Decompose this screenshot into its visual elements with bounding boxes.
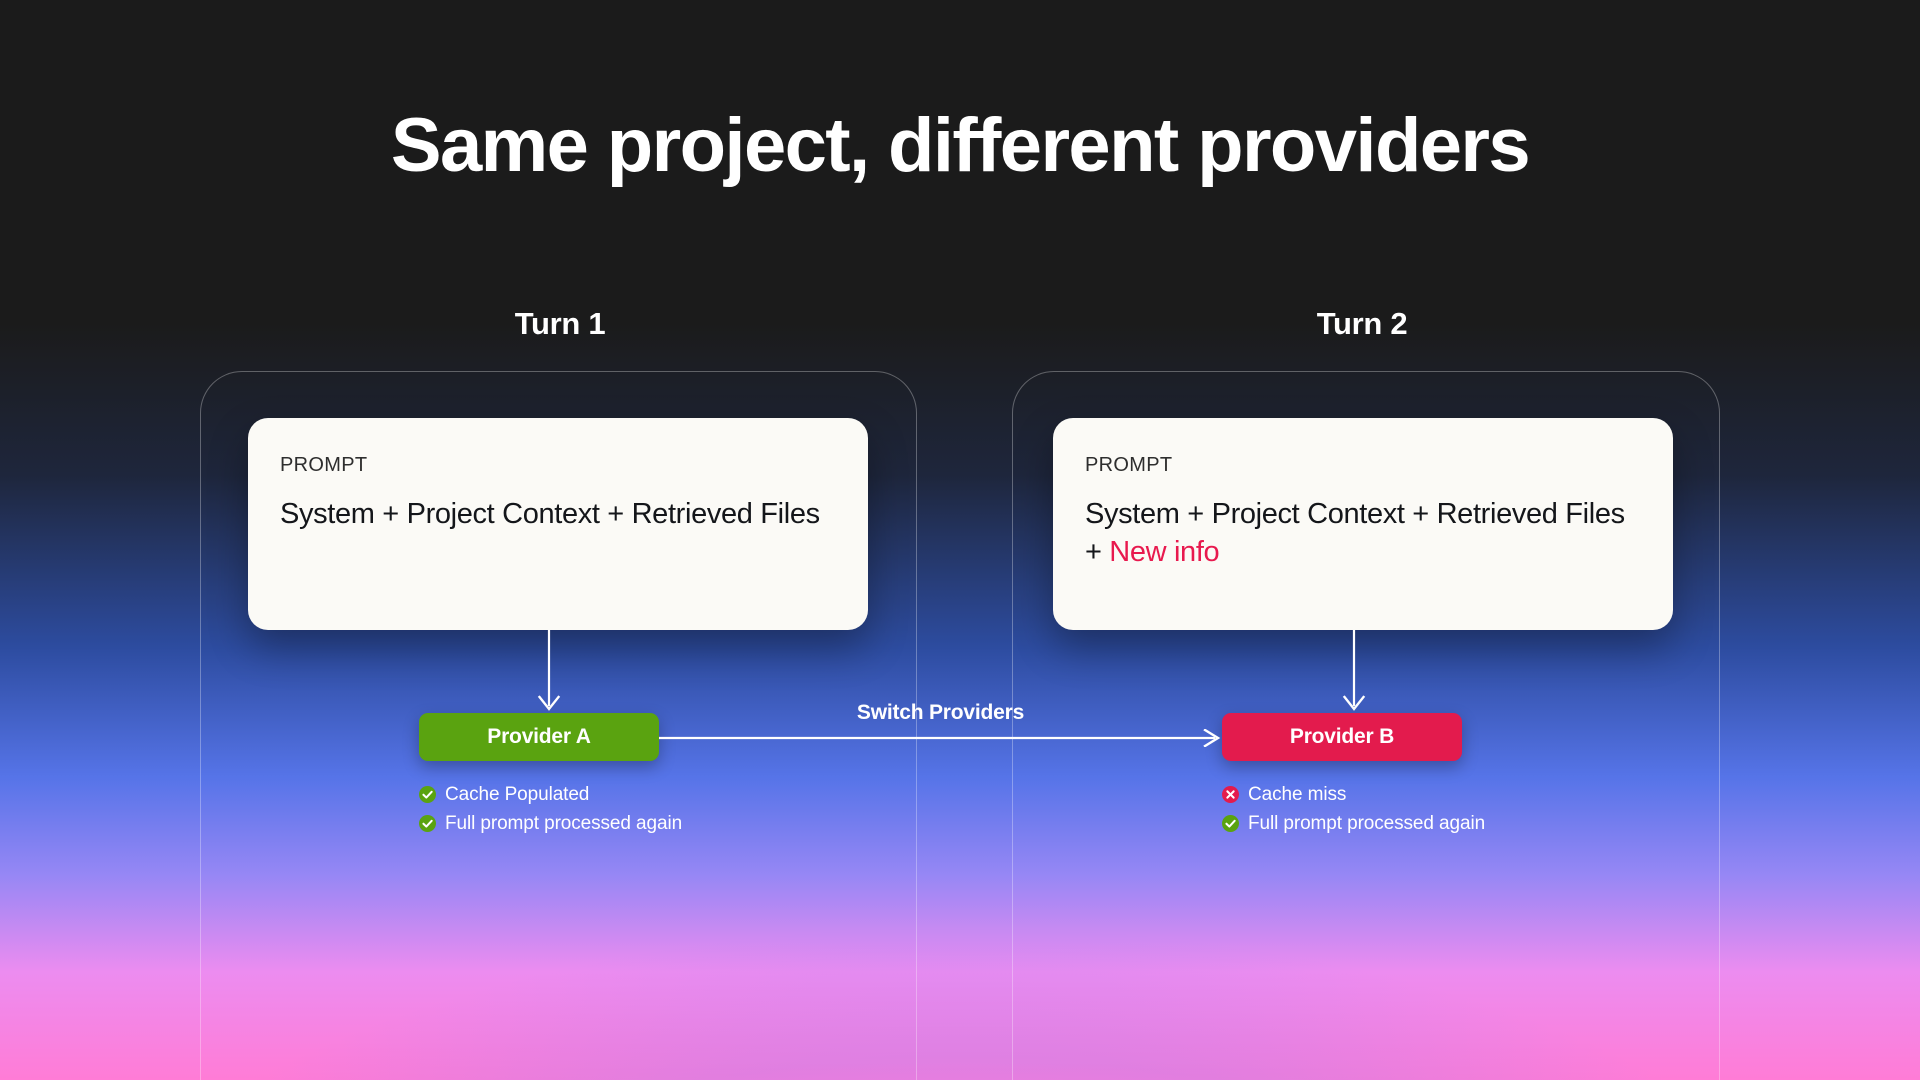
provider-button-b[interactable]: Provider B <box>1222 713 1462 761</box>
prompt-body-accent-segment: New info <box>1109 536 1219 568</box>
status-item: Full prompt processed again <box>419 812 682 836</box>
provider-button-a[interactable]: Provider A <box>419 713 659 761</box>
check-circle-icon <box>419 815 436 832</box>
x-circle-icon <box>1222 786 1239 803</box>
status-label: Full prompt processed again <box>1248 812 1485 836</box>
arrow-down-icon <box>536 630 562 714</box>
prompt-card-turn-1: PROMPT System + Project Context + Retrie… <box>248 418 868 630</box>
prompt-body-segment: System + Project Context + Retrieved Fil… <box>280 498 820 530</box>
switch-providers-label: Switch Providers <box>659 701 1222 725</box>
prompt-card-turn-2: PROMPT System + Project Context + Retrie… <box>1053 418 1673 630</box>
prompt-body: System + Project Context + Retrieved Fil… <box>1085 495 1641 572</box>
status-item: Cache miss <box>1222 783 1485 807</box>
status-label: Cache miss <box>1248 783 1346 807</box>
prompt-body: System + Project Context + Retrieved Fil… <box>280 495 836 533</box>
provider-label: Provider A <box>487 725 590 749</box>
prompt-kicker: PROMPT <box>280 454 836 477</box>
turn-label-1: Turn 1 <box>380 306 740 342</box>
status-list-turn-2: Cache miss Full prompt processed again <box>1222 783 1485 836</box>
status-item: Cache Populated <box>419 783 682 807</box>
arrow-right-icon <box>659 729 1222 747</box>
status-list-turn-1: Cache Populated Full prompt processed ag… <box>419 783 682 836</box>
check-circle-icon <box>419 786 436 803</box>
status-label: Full prompt processed again <box>445 812 682 836</box>
turn-label-2: Turn 2 <box>1182 306 1542 342</box>
prompt-kicker: PROMPT <box>1085 454 1641 477</box>
provider-label: Provider B <box>1290 725 1394 749</box>
page-title: Same project, different providers <box>0 108 1920 184</box>
status-label: Cache Populated <box>445 783 589 807</box>
arrow-down-icon <box>1341 630 1367 714</box>
check-circle-icon <box>1222 815 1239 832</box>
status-item: Full prompt processed again <box>1222 812 1485 836</box>
